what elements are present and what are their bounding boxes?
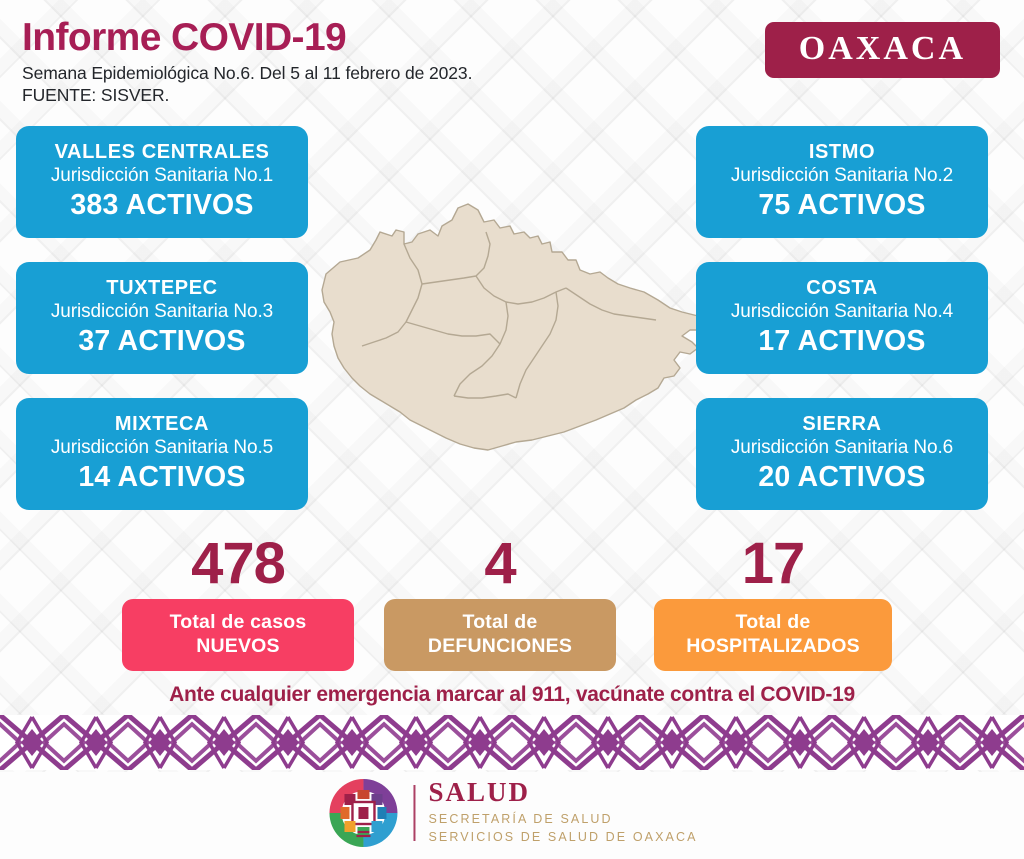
jurisdiction-label: Jurisdicción Sanitaria No.2 (731, 165, 953, 188)
total-label-line1: Total de casos (170, 611, 307, 635)
emergency-note: Ante cualquier emergencia marcar al 911,… (0, 683, 1024, 707)
jurisdiction-name: COSTA (806, 277, 878, 301)
jurisdiction-active-count: 75 ACTIVOS (758, 188, 925, 223)
jurisdiction-name: TUXTEPEC (106, 277, 217, 301)
total-label-line1: Total de (686, 611, 860, 635)
oaxaca-map (318, 196, 710, 506)
jurisdiction-name: MIXTECA (115, 413, 209, 437)
footer: SALUD SECRETARÍA DE SALUD SERVICIOS DE S… (0, 772, 1024, 859)
logo-subtitle-line1: SECRETARÍA DE SALUD (428, 811, 697, 829)
jurisdiction-card-sierra[interactable]: SIERRA Jurisdicción Sanitaria No.6 20 AC… (696, 398, 988, 510)
source-line: FUENTE: SISVER. (22, 84, 662, 106)
jurisdiction-label: Jurisdicción Sanitaria No.6 (731, 437, 953, 460)
jurisdiction-card-mixteca[interactable]: MIXTECA Jurisdicción Sanitaria No.5 14 A… (16, 398, 308, 510)
jurisdiction-label: Jurisdicción Sanitaria No.4 (731, 301, 953, 324)
jurisdiction-card-valles-centrales[interactable]: VALLES CENTRALES Jurisdicción Sanitaria … (16, 126, 308, 238)
jurisdiction-label: Jurisdicción Sanitaria No.1 (51, 165, 273, 188)
jurisdiction-name: VALLES CENTRALES (55, 141, 270, 165)
total-label-line1: Total de (428, 611, 572, 635)
header: Informe COVID-19 Semana Epidemiológica N… (22, 18, 662, 107)
total-value: 17 (654, 535, 892, 593)
logo-title: SALUD (428, 779, 697, 806)
total-pill-hospitalizados[interactable]: Total de HOSPITALIZADOS (654, 599, 892, 671)
total-pill-defunciones[interactable]: Total de DEFUNCIONES (384, 599, 616, 671)
jurisdiction-card-tuxtepec[interactable]: TUXTEPEC Jurisdicción Sanitaria No.3 37 … (16, 262, 308, 374)
total-block-nuevos: 478 Total de casos NUEVOS (122, 535, 354, 671)
jurisdiction-label: Jurisdicción Sanitaria No.3 (51, 301, 273, 324)
total-label-line2: DEFUNCIONES (428, 635, 572, 659)
total-pill-nuevos[interactable]: Total de casos NUEVOS (122, 599, 354, 671)
total-label-line2: NUEVOS (170, 635, 307, 659)
page-title: Informe COVID-19 (22, 18, 662, 58)
jurisdiction-active-count: 37 ACTIVOS (78, 324, 245, 359)
salud-emblem-icon (326, 776, 400, 850)
jurisdiction-name: SIERRA (802, 413, 881, 437)
greca-pattern-band (0, 715, 1024, 770)
total-value: 4 (384, 535, 616, 593)
jurisdiction-card-istmo[interactable]: ISTMO Jurisdicción Sanitaria No.2 75 ACT… (696, 126, 988, 238)
logo-divider (413, 785, 415, 841)
state-badge: OAXACA (765, 22, 1000, 78)
total-value: 478 (122, 535, 354, 593)
jurisdiction-active-count: 383 ACTIVOS (70, 188, 253, 223)
covid-report-poster: Informe COVID-19 Semana Epidemiológica N… (0, 0, 1024, 859)
total-block-defunciones: 4 Total de DEFUNCIONES (384, 535, 616, 671)
total-label-line2: HOSPITALIZADOS (686, 635, 860, 659)
total-block-hospitalizados: 17 Total de HOSPITALIZADOS (654, 535, 892, 671)
jurisdiction-label: Jurisdicción Sanitaria No.5 (51, 437, 273, 460)
epidemiological-week-line: Semana Epidemiológica No.6. Del 5 al 11 … (22, 62, 662, 84)
jurisdiction-name: ISTMO (809, 141, 875, 165)
jurisdiction-active-count: 17 ACTIVOS (758, 324, 925, 359)
jurisdiction-card-costa[interactable]: COSTA Jurisdicción Sanitaria No.4 17 ACT… (696, 262, 988, 374)
jurisdiction-active-count: 20 ACTIVOS (758, 460, 925, 495)
logo-subtitle-line2: SERVICIOS DE SALUD DE OAXACA (428, 829, 697, 847)
jurisdiction-active-count: 14 ACTIVOS (78, 460, 245, 495)
